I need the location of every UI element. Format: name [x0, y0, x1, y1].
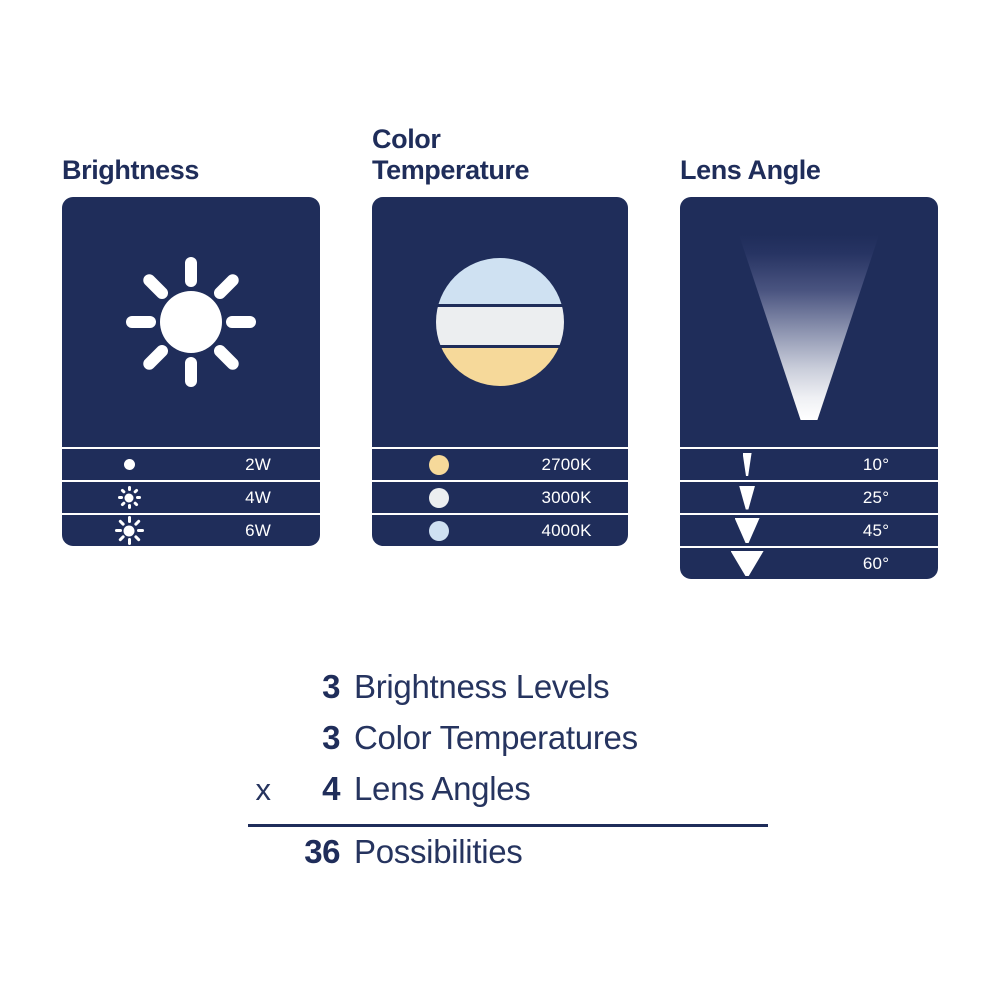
summary-line: 3 Color Temperatures — [248, 719, 768, 770]
sun-ray — [115, 529, 122, 532]
summary-number: 4 — [278, 770, 340, 808]
summary-label: Color Temperatures — [340, 719, 638, 757]
summary-total-line: 36 Possibilities — [248, 833, 768, 884]
table-row[interactable]: 4W — [62, 480, 320, 513]
summary-label: Brightness Levels — [340, 668, 609, 706]
sun-ray — [212, 343, 242, 373]
sun-ray — [141, 272, 171, 302]
table-row[interactable]: 45° — [680, 513, 938, 546]
sun-ray — [128, 516, 131, 523]
sun-ray — [128, 486, 131, 491]
dot-shape — [429, 521, 449, 541]
sun-ray — [128, 538, 131, 545]
sun-ray — [185, 357, 197, 387]
lens-angle-value: 25° — [814, 488, 938, 508]
sun-ray — [133, 519, 140, 526]
summary-total-label: Possibilities — [340, 833, 523, 871]
sun-ray — [126, 316, 156, 328]
brightness-card-art — [62, 197, 320, 447]
lens-angle-card-group: Lens Angle 10° 25° — [680, 155, 938, 579]
sun-icon — [117, 248, 265, 396]
sun-ray — [136, 496, 141, 499]
color-temperature-card-title: Color Temperature — [372, 124, 628, 186]
brightness-rows: 2W — [62, 447, 320, 546]
color-temperature-value: 3000K — [505, 488, 628, 508]
sun-ray — [128, 504, 131, 509]
warm-band — [436, 348, 564, 386]
beam-25-icon — [680, 486, 814, 510]
dot-shape — [124, 459, 135, 470]
brightness-value: 6W — [196, 521, 320, 541]
brightness-card-title: Brightness — [62, 155, 320, 186]
sun-core — [160, 291, 222, 353]
dot-icon — [62, 459, 196, 470]
color-temperature-value: 2700K — [505, 455, 628, 475]
table-row[interactable]: 6W — [62, 513, 320, 546]
summary-divider — [248, 824, 768, 827]
triangle-shape — [743, 453, 752, 476]
color-temperature-circle-icon — [436, 258, 564, 386]
table-row[interactable]: 60° — [680, 546, 938, 579]
color-temperature-rows: 2700K 3000K 4000K — [372, 447, 628, 546]
summary-number: 3 — [278, 719, 340, 757]
sun-ray — [212, 272, 242, 302]
table-row[interactable]: 3000K — [372, 480, 628, 513]
sun-ray — [120, 501, 126, 507]
lens-angle-rows: 10° 25° 45° — [680, 447, 938, 579]
color-temperature-card-group: Color Temperature 2700K — [372, 124, 628, 546]
triangle-shape — [731, 551, 764, 576]
lens-angle-card[interactable]: 10° 25° 45° — [680, 197, 938, 579]
sun-ray — [118, 519, 125, 526]
cool-dot-icon — [372, 521, 505, 541]
infographic-canvas: Brightness — [0, 0, 1000, 1000]
summary-line: x 4 Lens Angles — [248, 770, 768, 821]
table-row[interactable]: 4000K — [372, 513, 628, 546]
sun-ray — [120, 488, 126, 494]
sun-core — [125, 493, 134, 502]
summary-number: 3 — [278, 668, 340, 706]
lens-angle-value: 60° — [814, 554, 938, 574]
lens-angle-card-art — [680, 197, 938, 447]
neutral-band — [436, 307, 564, 345]
warm-dot-icon — [372, 455, 505, 475]
medium-sun-icon — [62, 516, 196, 546]
neutral-dot-icon — [372, 488, 505, 508]
dot-shape — [429, 455, 449, 475]
summary-block: 3 Brightness Levels 3 Color Temperatures… — [248, 668, 768, 884]
summary-total-number: 36 — [278, 833, 340, 871]
lens-angle-value: 45° — [814, 521, 938, 541]
sun-ray — [137, 529, 144, 532]
sun-ray — [118, 535, 125, 542]
dot-shape — [429, 488, 449, 508]
beam-60-icon — [680, 551, 814, 576]
beam-45-icon — [680, 518, 814, 543]
brightness-card[interactable]: 2W — [62, 197, 320, 546]
sun-ray — [133, 488, 139, 494]
sun-ray — [185, 257, 197, 287]
summary-operator: x — [248, 772, 278, 808]
sun-core — [124, 525, 135, 536]
sun-ray — [133, 535, 140, 542]
small-sun-icon — [62, 485, 196, 511]
lens-angle-card-title: Lens Angle — [680, 155, 938, 186]
table-row[interactable]: 10° — [680, 447, 938, 480]
brightness-value: 2W — [196, 455, 320, 475]
color-temperature-card[interactable]: 2700K 3000K 4000K — [372, 197, 628, 546]
beam-cone-shape — [739, 235, 879, 420]
table-row[interactable]: 25° — [680, 480, 938, 513]
light-beam-cone-icon — [680, 197, 938, 447]
color-temperature-value: 4000K — [505, 521, 628, 541]
sun-ray — [118, 496, 123, 499]
table-row[interactable]: 2700K — [372, 447, 628, 480]
summary-line: 3 Brightness Levels — [248, 668, 768, 719]
sun-ray — [141, 343, 171, 373]
summary-label: Lens Angles — [340, 770, 531, 808]
lens-angle-value: 10° — [814, 455, 938, 475]
brightness-card-group: Brightness — [62, 155, 320, 546]
triangle-shape — [735, 518, 760, 543]
color-temperature-card-art — [372, 197, 628, 447]
cool-band — [436, 258, 564, 304]
brightness-value: 4W — [196, 488, 320, 508]
beam-10-icon — [680, 453, 814, 476]
sun-ray — [133, 501, 139, 507]
triangle-shape — [739, 486, 755, 510]
sun-ray — [226, 316, 256, 328]
table-row[interactable]: 2W — [62, 447, 320, 480]
